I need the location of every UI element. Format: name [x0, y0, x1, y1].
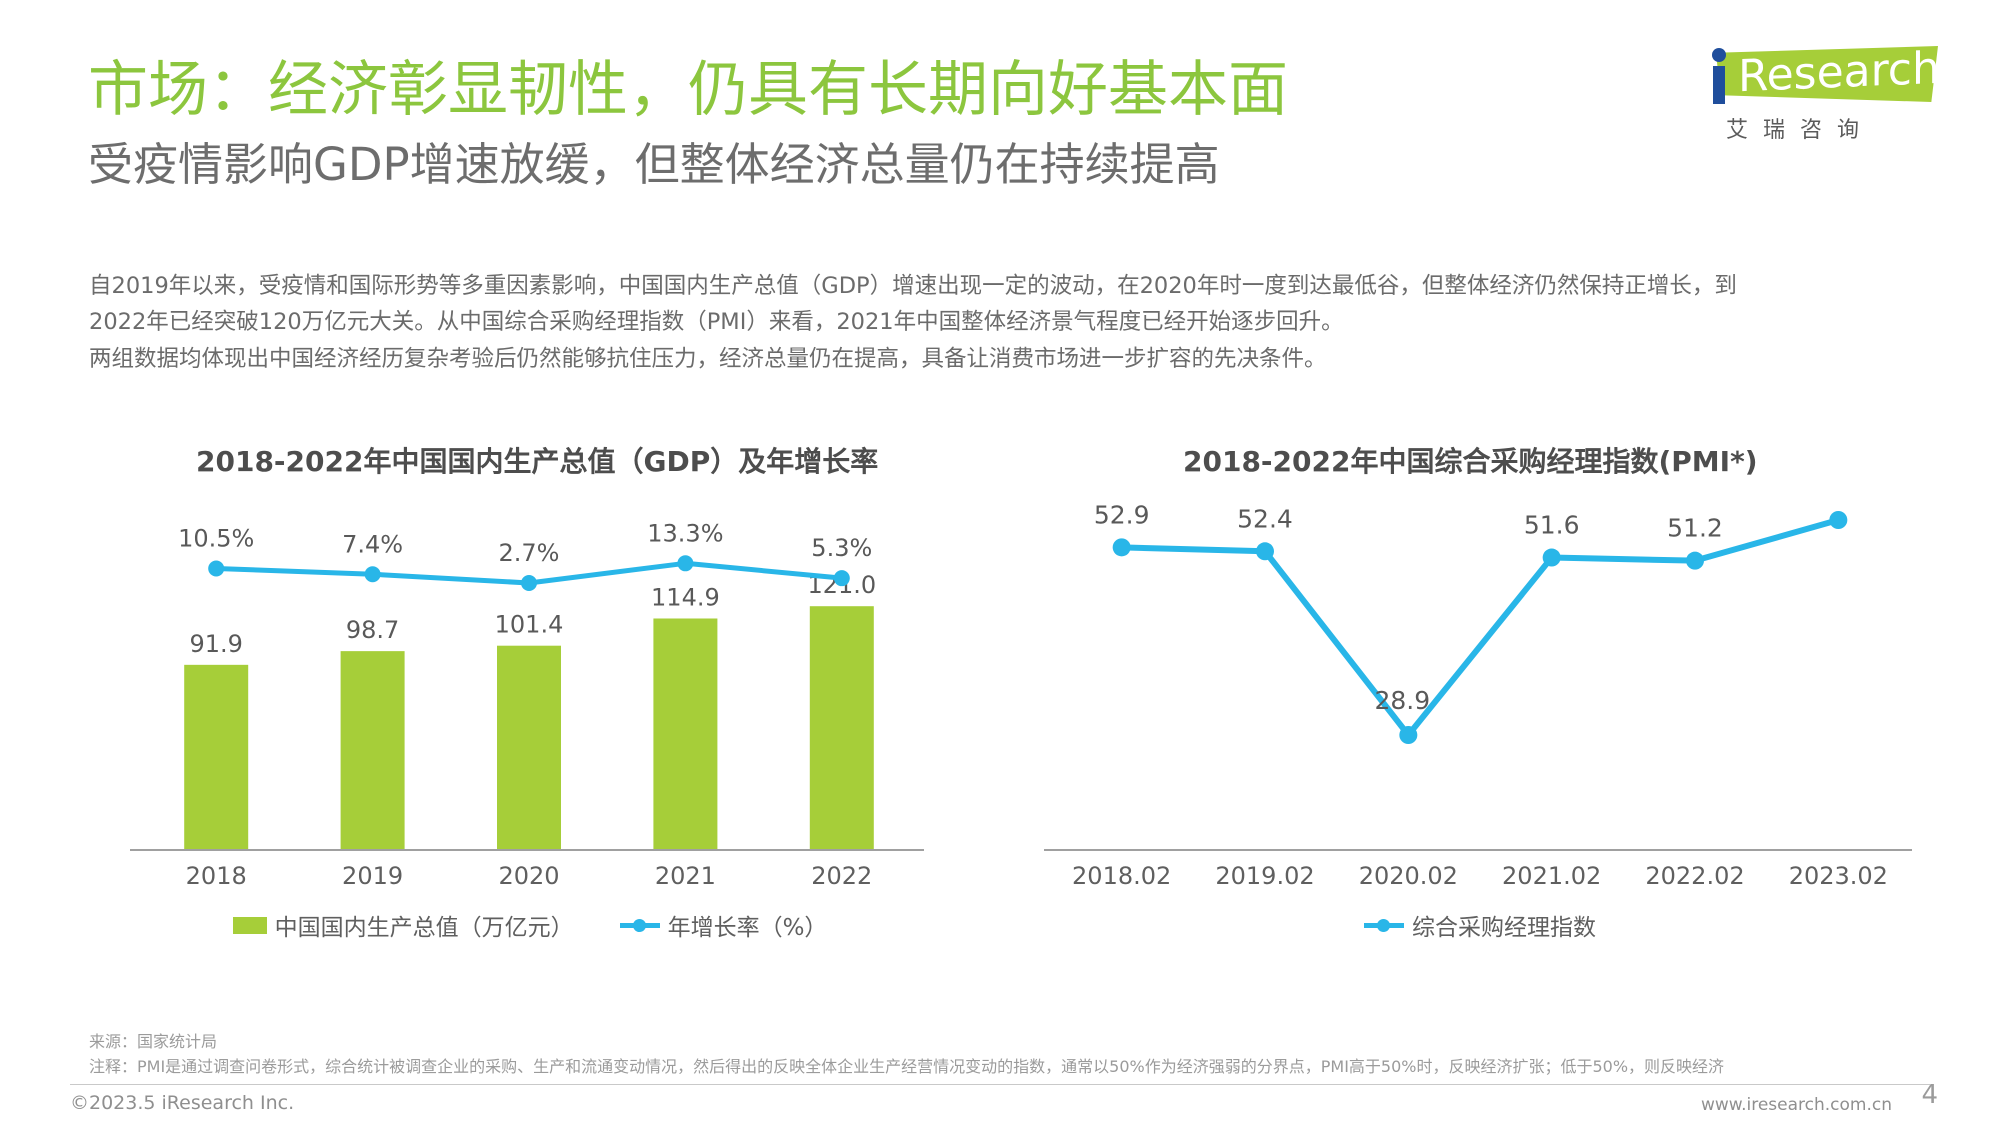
- pmi-axis-tick-label: 2022.02: [1645, 862, 1744, 890]
- page-subtitle: 受疫情影响GDP增速放缓，但整体经济总量仍在持续提高: [88, 138, 1220, 192]
- iresearch-logo: Research 艾瑞咨询: [1682, 40, 1942, 150]
- growth-rate-value: 13.3%: [647, 519, 723, 547]
- pmi-point: [1686, 552, 1704, 570]
- line-swatch-icon: [620, 917, 660, 934]
- body-line-2: 2022年已经突破120万亿元大关。从中国综合采购经理指数（PMI）来看，202…: [89, 304, 1919, 340]
- gdp-bar: [653, 618, 717, 850]
- gdp-axis-tick-label: 2020: [498, 862, 559, 890]
- growth-rate-value: 2.7%: [499, 539, 560, 567]
- pmi-point: [1399, 726, 1417, 744]
- footer-copyright: ©2023.5 iResearch Inc.: [70, 1092, 294, 1114]
- pmi-point: [1829, 511, 1847, 529]
- logo-i-dot-icon: [1712, 48, 1726, 62]
- pmi-axis-tick-label: 2018.02: [1072, 862, 1171, 890]
- gdp-bar: [810, 606, 874, 850]
- pmi-chart: 52.952.428.951.651.256.42018.022019.0220…: [1040, 500, 1920, 920]
- bar-swatch-icon: [233, 917, 267, 934]
- pmi-line: [1122, 520, 1839, 735]
- gdp-bar-value: 98.7: [346, 616, 399, 644]
- gdp-bar-value: 114.9: [651, 583, 720, 611]
- logo-mark: Research: [1682, 40, 1942, 108]
- pmi-point-value: 51.2: [1667, 514, 1723, 543]
- growth-rate-point: [365, 566, 381, 582]
- footer-divider: [70, 1084, 1930, 1085]
- logo-chinese-name: 艾瑞咨询: [1726, 112, 1874, 144]
- pmi-point-value: 28.9: [1374, 686, 1430, 715]
- gdp-chart-svg: 91.998.7101.4114.9121.010.5%7.4%2.7%13.3…: [120, 500, 940, 920]
- legend-item-gdp: 中国国内生产总值（万亿元）: [233, 908, 574, 942]
- pmi-chart-title: 2018-2022年中国综合采购经理指数(PMI*): [1183, 440, 1758, 480]
- logo-i-stem-icon: [1713, 66, 1725, 104]
- footer-website: www.iresearch.com.cn: [1701, 1095, 1892, 1115]
- body-paragraph: 自2019年以来，受疫情和国际形势等多重因素影响，中国国内生产总值（GDP）增速…: [89, 268, 1919, 377]
- growth-rate-value: 10.5%: [178, 525, 254, 553]
- pmi-axis-tick-label: 2020.02: [1359, 862, 1458, 890]
- page-number: 4: [1921, 1080, 1938, 1110]
- line-swatch-icon: [1364, 917, 1404, 934]
- gdp-bar: [184, 665, 248, 850]
- legend-label-gdp: 中国国内生产总值（万亿元）: [275, 908, 574, 942]
- growth-rate-value: 5.3%: [811, 534, 872, 562]
- gdp-chart: 91.998.7101.4114.9121.010.5%7.4%2.7%13.3…: [120, 500, 940, 920]
- gdp-chart-legend: 中国国内生产总值（万亿元） 年增长率（%）: [120, 908, 940, 942]
- pmi-chart-svg: 52.952.428.951.651.256.42018.022019.0220…: [1040, 500, 1920, 920]
- legend-label-growth: 年增长率（%）: [668, 908, 828, 942]
- pmi-point-value: 52.9: [1094, 500, 1150, 529]
- pmi-axis-tick-label: 2019.02: [1215, 862, 1314, 890]
- body-line-3: 两组数据均体现出中国经济经历复杂考验后仍然能够抗住压力，经济总量仍在提高，具备让…: [89, 341, 1919, 377]
- pmi-axis-tick-label: 2021.02: [1502, 862, 1601, 890]
- growth-rate-point: [521, 575, 537, 591]
- gdp-chart-title: 2018-2022年中国国内生产总值（GDP）及年增长率: [196, 440, 878, 480]
- gdp-axis-tick-label: 2018: [186, 862, 247, 890]
- pmi-point: [1113, 538, 1131, 556]
- gdp-axis-tick-label: 2019: [342, 862, 403, 890]
- legend-item-growth: 年增长率（%）: [620, 908, 828, 942]
- pmi-chart-legend: 综合采购经理指数: [1040, 908, 1920, 942]
- page-title: 市场：经济彰显韧性，仍具有长期向好基本面: [88, 58, 1288, 123]
- pmi-point: [1256, 542, 1274, 560]
- gdp-axis-tick-label: 2022: [811, 862, 872, 890]
- footnote-source: 来源：国家统计局: [89, 1030, 1919, 1055]
- footnotes: 来源：国家统计局 注释：PMI是通过调查问卷形式，综合统计被调查企业的采购、生产…: [89, 1030, 1919, 1080]
- legend-label-pmi: 综合采购经理指数: [1412, 908, 1596, 942]
- slide-root: Research 艾瑞咨询 市场：经济彰显韧性，仍具有长期向好基本面 受疫情影响…: [0, 0, 2000, 1125]
- logo-wordmark: Research: [1738, 43, 1940, 102]
- growth-rate-point: [834, 570, 850, 586]
- pmi-point-value: 56.4: [1810, 500, 1866, 502]
- pmi-point-value: 51.6: [1524, 511, 1580, 540]
- growth-rate-point: [208, 561, 224, 577]
- gdp-bar: [497, 646, 561, 850]
- gdp-bar-value: 101.4: [495, 611, 564, 639]
- pmi-point: [1543, 549, 1561, 567]
- growth-rate-value: 7.4%: [342, 530, 403, 558]
- gdp-axis-tick-label: 2021: [655, 862, 716, 890]
- footnote-note: 注释：PMI是通过调查问卷形式，综合统计被调查企业的采购、生产和流通变动情况，然…: [89, 1055, 1919, 1080]
- pmi-axis-tick-label: 2023.02: [1789, 862, 1888, 890]
- gdp-bar: [341, 651, 405, 850]
- pmi-point-value: 52.4: [1237, 504, 1293, 533]
- gdp-bar-value: 91.9: [189, 630, 242, 658]
- legend-item-pmi: 综合采购经理指数: [1364, 908, 1596, 942]
- body-line-1: 自2019年以来，受疫情和国际形势等多重因素影响，中国国内生产总值（GDP）增速…: [89, 268, 1919, 304]
- growth-rate-point: [677, 555, 693, 571]
